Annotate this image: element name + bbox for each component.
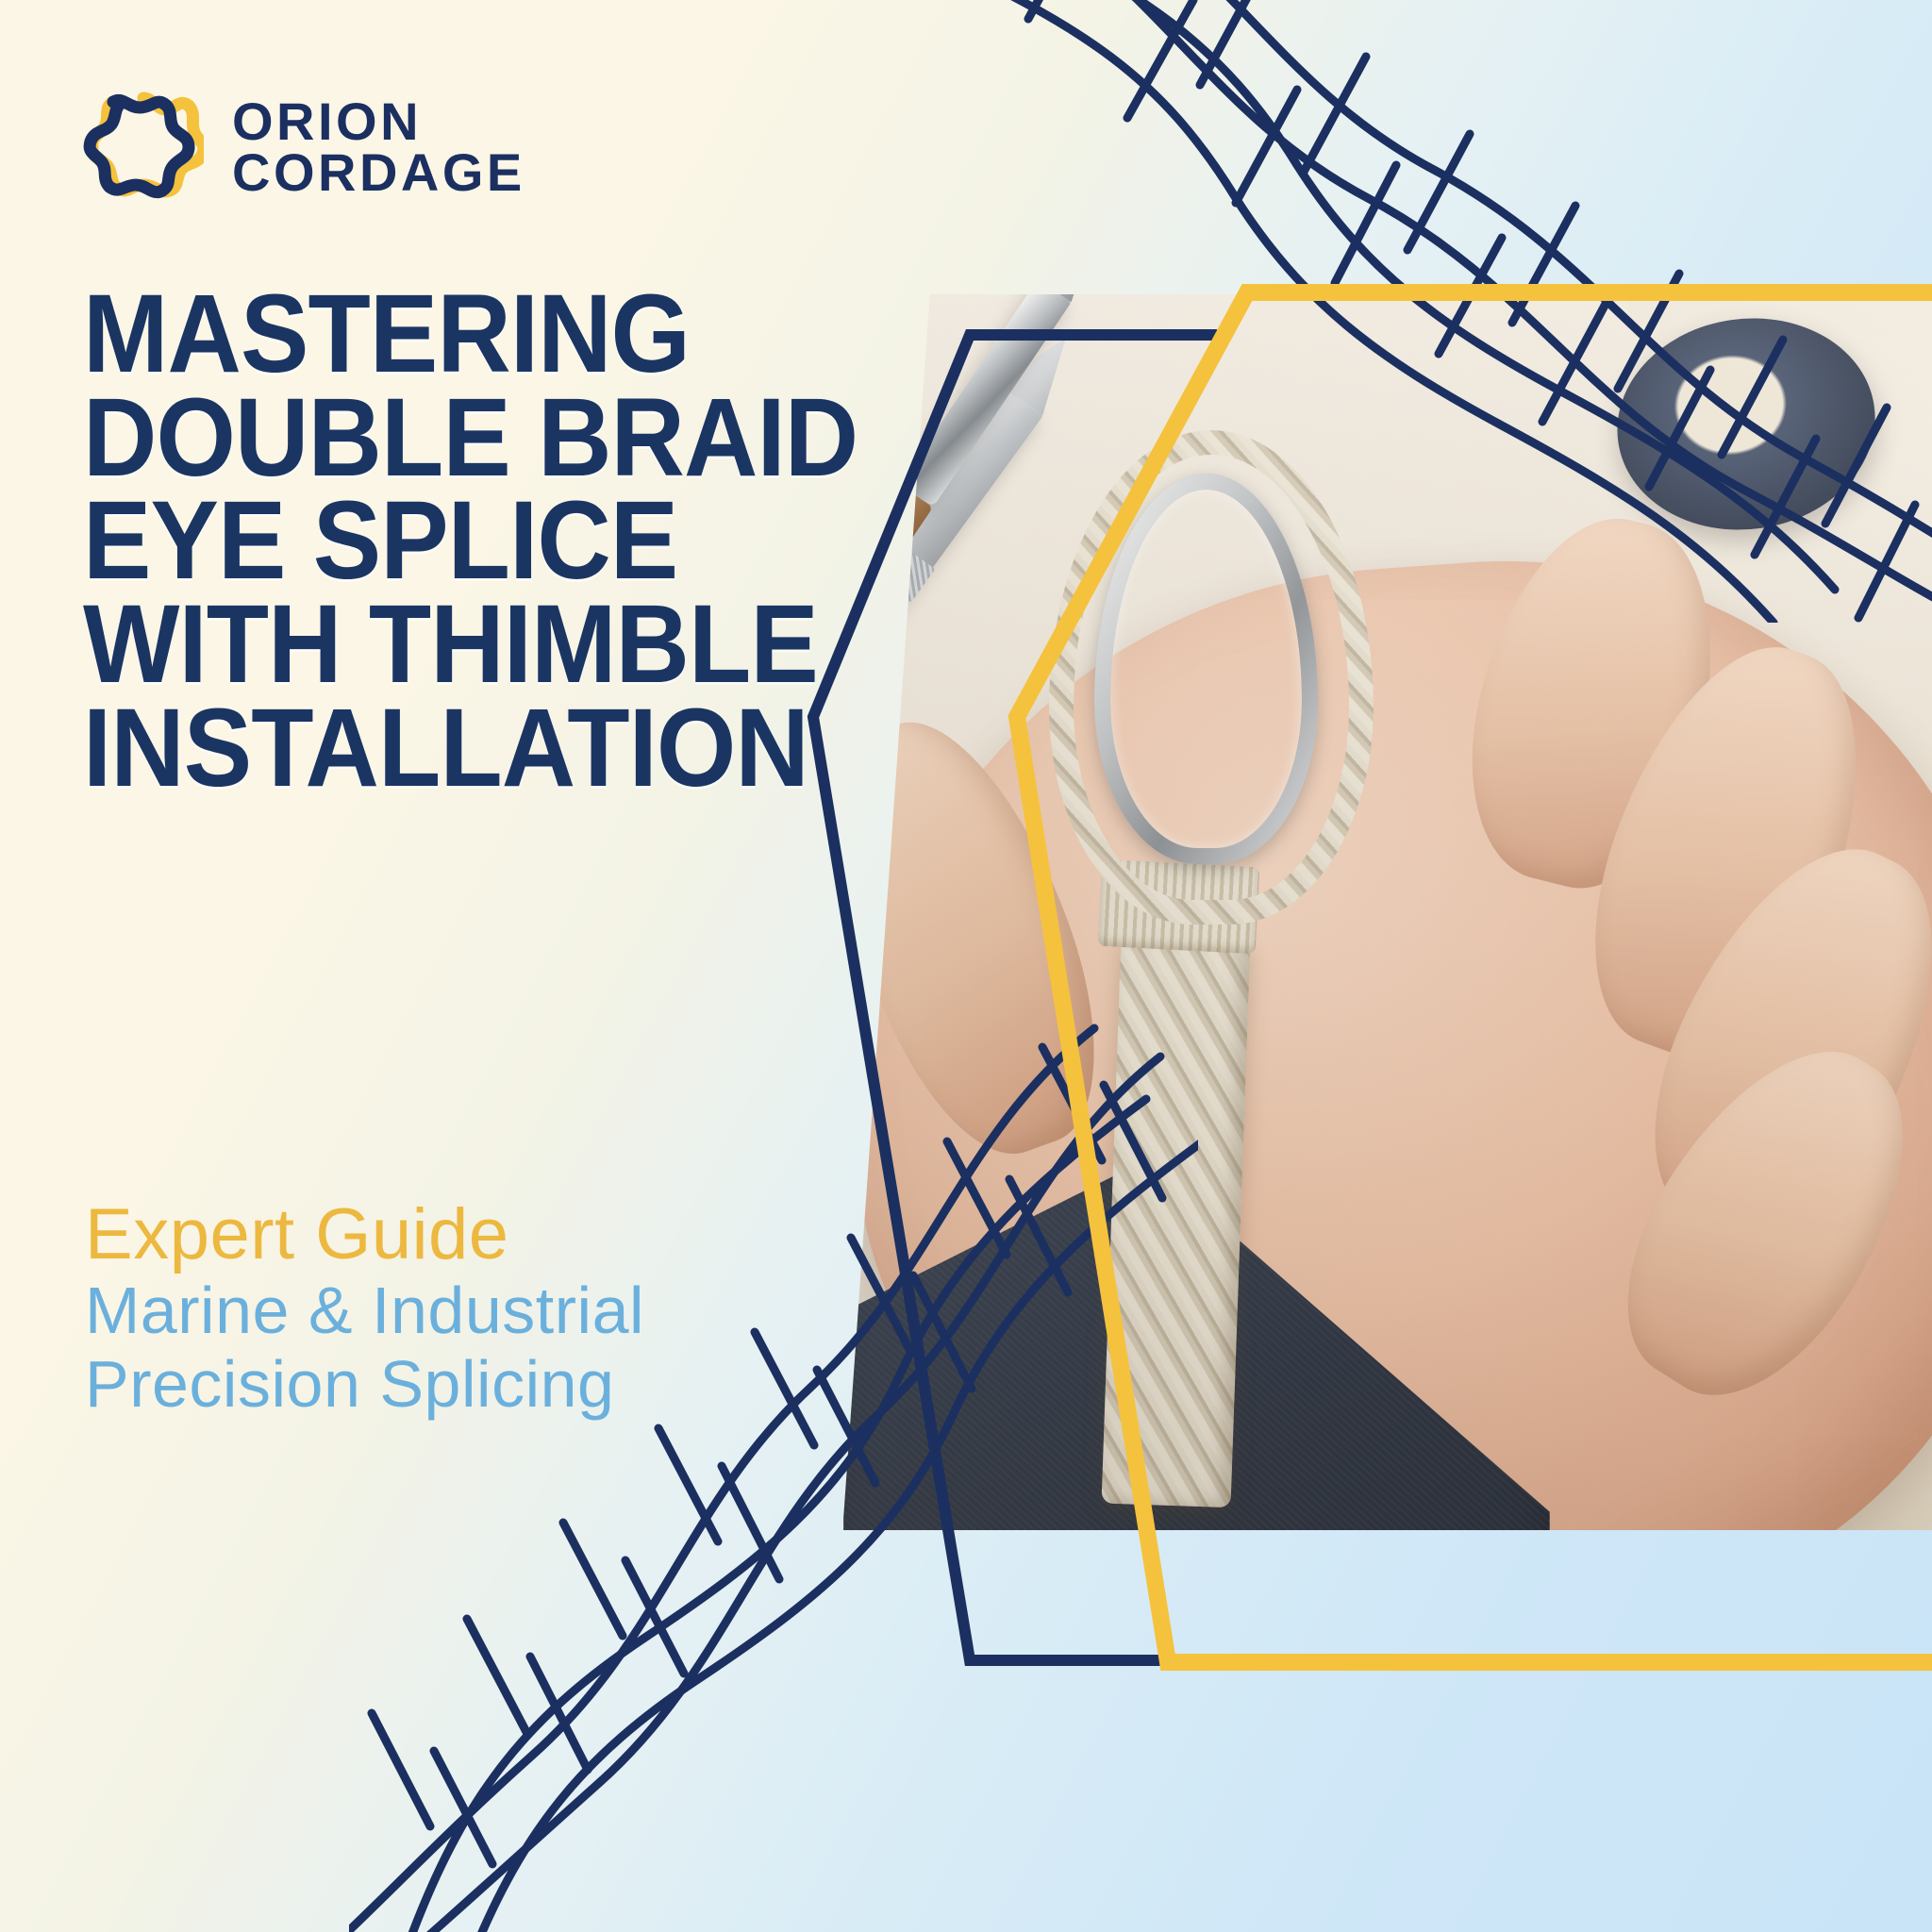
brand-logo[interactable]: ORION CORDAGE [83, 87, 525, 208]
headline-line-3: EYE SPLICE [83, 490, 760, 593]
headline-line-1: MASTERING [83, 283, 760, 387]
headline-line-5: INSTALLATION [83, 697, 760, 801]
rope-knot-circle-icon [83, 87, 204, 208]
poster-canvas: ORION CORDAGE MASTERING DOUBLE BRAID EYE… [0, 0, 1932, 1932]
hero-photo [808, 294, 1932, 1530]
subtitle-line-1: Marine & Industrial [85, 1274, 644, 1347]
headline-line-4: WITH THIMBLE [83, 593, 760, 697]
subtitle-block: Expert Guide Marine & Industrial Precisi… [85, 1196, 644, 1422]
brand-name-line-1: ORION [232, 96, 525, 147]
subtitle-line-2: Precision Splicing [85, 1347, 644, 1421]
headline-line-2: DOUBLE BRAID [83, 387, 760, 491]
subtitle-eyebrow: Expert Guide [85, 1196, 644, 1274]
photo-shading [808, 294, 1932, 1530]
page-title: MASTERING DOUBLE BRAID EYE SPLICE WITH T… [83, 283, 819, 801]
brand-name-line-2: CORDAGE [232, 147, 525, 198]
